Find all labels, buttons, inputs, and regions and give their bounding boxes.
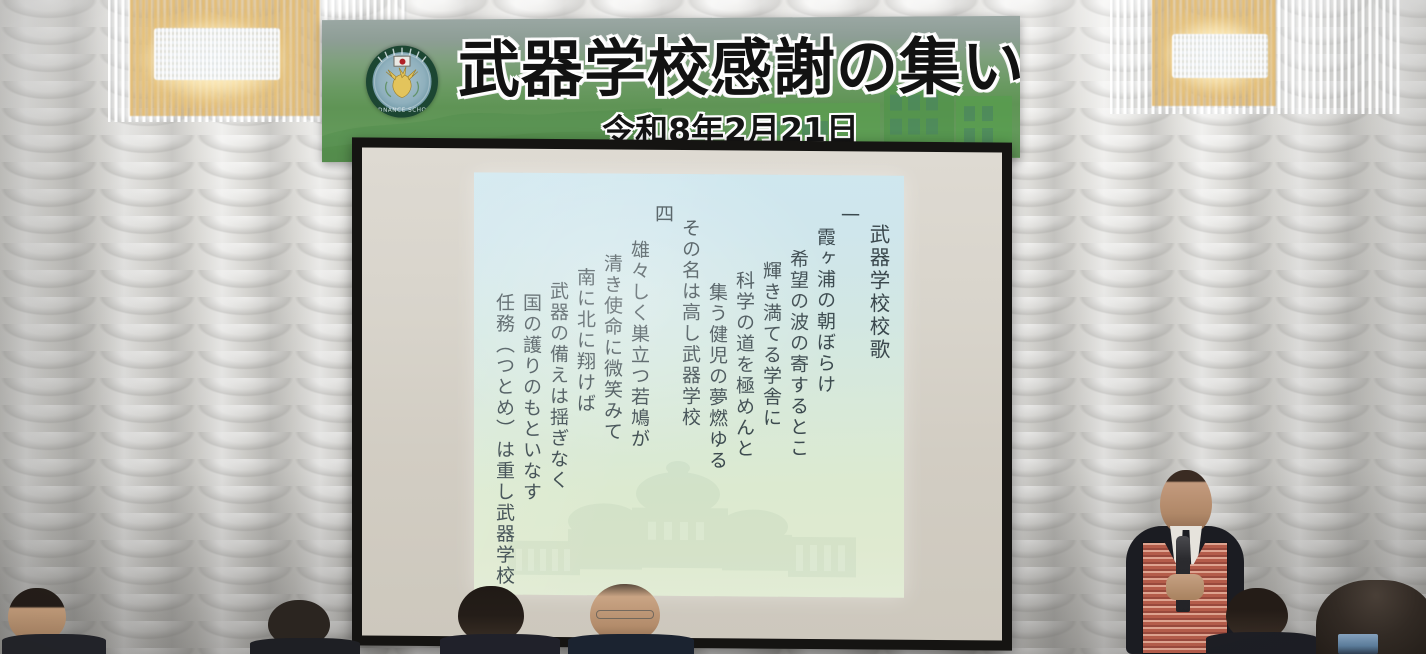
chandelier-right-core (1172, 34, 1268, 78)
audience-shoulders (1206, 632, 1318, 654)
svg-text:ORDNANCE SCHOOL: ORDNANCE SCHOOL (369, 107, 436, 113)
ordnance-school-crest: ORDNANCE SCHOOL (366, 45, 438, 117)
audience-shoulders (250, 638, 360, 654)
projection-screen-surface: 武器学校校歌 一 霞ヶ浦の朝ぼらけ 希望の波の寄するとこ 輝き満てる学舎に 科学… (362, 147, 1002, 640)
audience-shoulders (440, 634, 560, 654)
audience-eyeglasses (596, 610, 654, 619)
banner-title: 武器学校感謝の集い (458, 30, 1003, 107)
audience-head-right-of-speaker (1206, 588, 1318, 654)
slide-column-11: 南に北に翔けば (567, 195, 594, 414)
chandelier-right (1110, 0, 1400, 114)
slide-column-12: 武器の備えは揺ぎなく (540, 195, 567, 491)
slide-column-1: 一 (834, 197, 858, 226)
audience-head-far-left (2, 588, 106, 654)
slide-column-2: 霞ヶ浦の朝ぼらけ (807, 197, 834, 395)
audience-shoulders (568, 634, 694, 654)
slide-column-13: 国の護りのもといなす (513, 195, 540, 503)
slide-column-3: 希望の波の寄するとこ (780, 197, 807, 459)
ceremony-hall-photo: ORDNANCE SCHOOL 武器学校感謝の集い 令和8年2月21日 (0, 0, 1426, 654)
slide-column-5: 科学の道を極めんと (726, 196, 753, 459)
audience-head-center (568, 584, 694, 654)
crest-device (380, 66, 424, 100)
chandelier-left-core (154, 28, 280, 80)
audience-shoulders (2, 634, 106, 654)
slide-column-6: 集う健児の夢燃ゆる (699, 196, 726, 471)
slide-column-4: 輝き満てる学舎に (753, 197, 780, 429)
slide-column-10: 清き使命に微笑みて (594, 195, 621, 442)
projected-slide: 武器学校校歌 一 霞ヶ浦の朝ぼらけ 希望の波の寄するとこ 輝き満てる学舎に 科学… (474, 172, 904, 597)
speaker-hands (1166, 574, 1204, 600)
laptop-screen-glow (1338, 634, 1378, 654)
audience-head-center-left (440, 586, 560, 654)
slide-column-0: 武器学校校歌 (858, 197, 888, 361)
slide-column-9: 雄々しく巣立つ若鳩が (621, 196, 648, 450)
speaker-head (1160, 470, 1212, 534)
projection-screen-frame: 武器学校校歌 一 霞ヶ浦の朝ぼらけ 希望の波の寄するとこ 輝き満てる学舎に 科学… (352, 137, 1012, 650)
slide-column-7: その名は高し武器学校 (672, 196, 699, 428)
slide-column-8: 四 (648, 196, 672, 225)
slide-column-14: 任務（つとめ）は重し武器学校 (486, 194, 513, 586)
audience-head-left (250, 600, 360, 654)
slide-lyrics: 武器学校校歌 一 霞ヶ浦の朝ぼらけ 希望の波の寄するとこ 輝き満てる学舎に 科学… (474, 172, 904, 597)
